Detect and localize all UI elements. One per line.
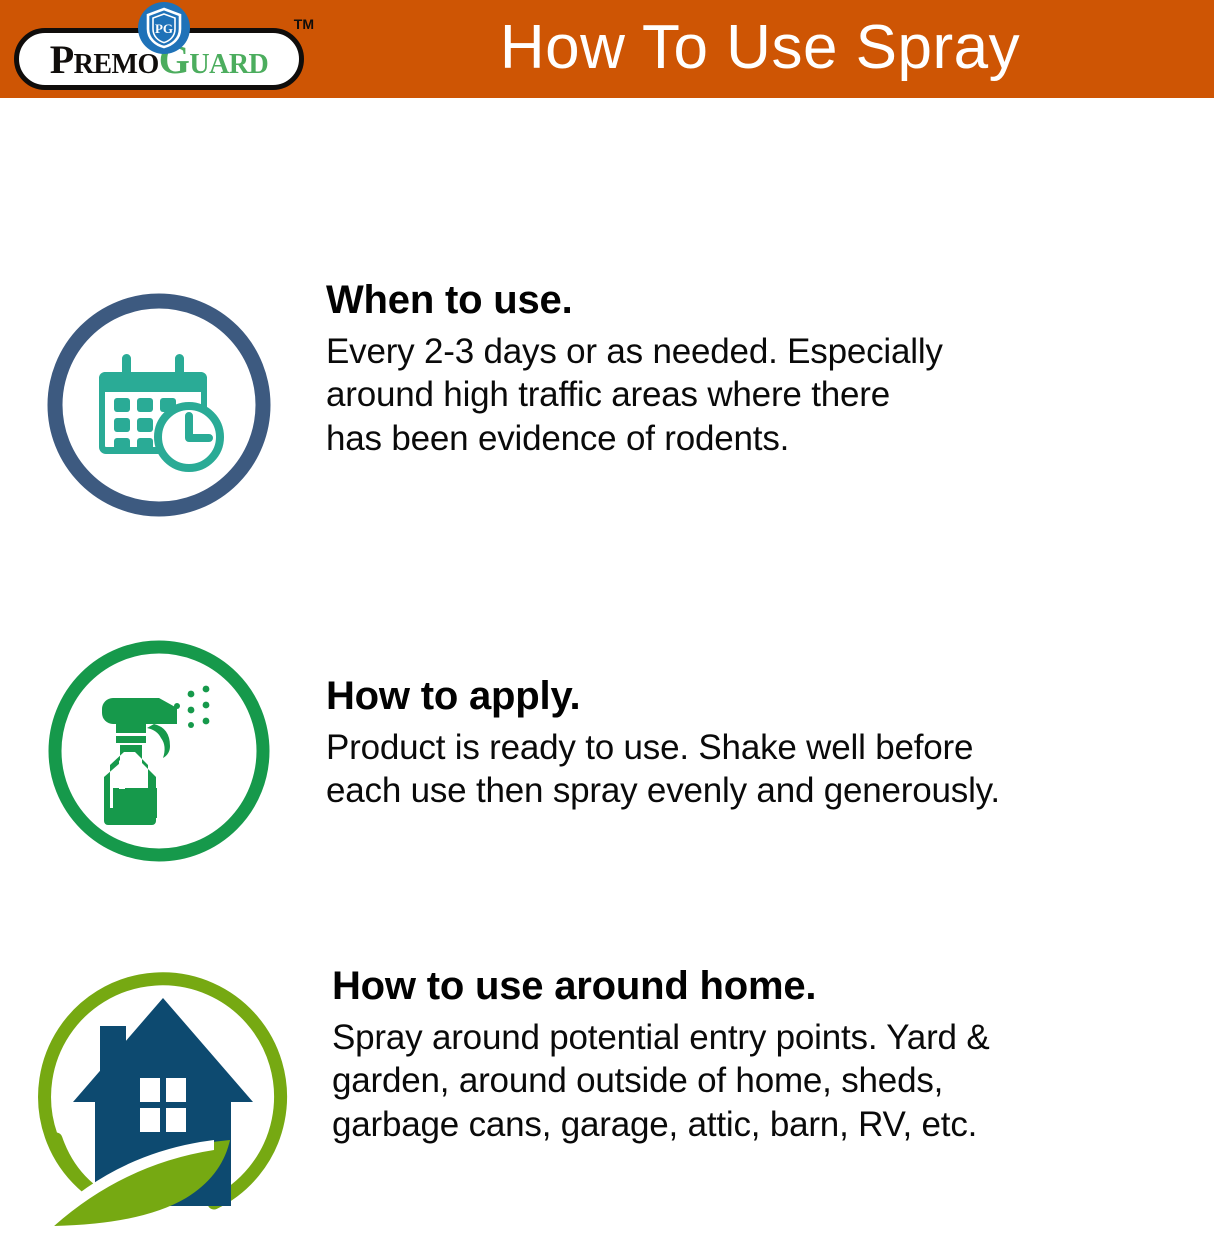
calendar-clock-icon	[34, 280, 284, 535]
spray-bottle-icon	[34, 626, 284, 881]
section-body: Spray around potential entry points. Yar…	[332, 1016, 1202, 1146]
body-line: Spray around potential entry points. Yar…	[332, 1016, 1202, 1059]
house-leaf-icon	[18, 956, 308, 1241]
body-line: around high traffic areas where there	[326, 373, 1156, 416]
section-heading: How to use around home.	[332, 966, 1202, 1006]
body-line: garden, around outside of home, sheds,	[332, 1059, 1202, 1102]
section-text: When to use. Every 2-3 days or as needed…	[326, 280, 1156, 460]
body-line: Every 2-3 days or as needed. Especially	[326, 330, 1156, 373]
body-line: garbage cans, garage, attic, barn, RV, e…	[332, 1103, 1202, 1146]
pg-initials: PG	[155, 21, 173, 36]
section-text: How to apply. Product is ready to use. S…	[326, 676, 1206, 813]
section-body: Product is ready to use. Shake well befo…	[326, 726, 1206, 813]
body-line: Product is ready to use. Shake well befo…	[326, 726, 1206, 769]
brand-logo: PG PremoGuard TM	[8, 2, 320, 98]
section-heading: How to apply.	[326, 676, 1206, 716]
section-text: How to use around home. Spray around pot…	[332, 966, 1202, 1146]
section-heading: When to use.	[326, 280, 1156, 320]
page-title: How To Use Spray	[330, 0, 1190, 98]
body-line: has been evidence of rodents.	[326, 417, 1156, 460]
pg-shield-badge-icon: PG	[138, 2, 190, 54]
body-line: each use then spray evenly and generousl…	[326, 769, 1206, 812]
section-body: Every 2-3 days or as needed. Especially …	[326, 330, 1156, 460]
page-header: PG PremoGuard TM How To Use Spray	[0, 0, 1214, 98]
trademark-mark: TM	[294, 16, 314, 32]
